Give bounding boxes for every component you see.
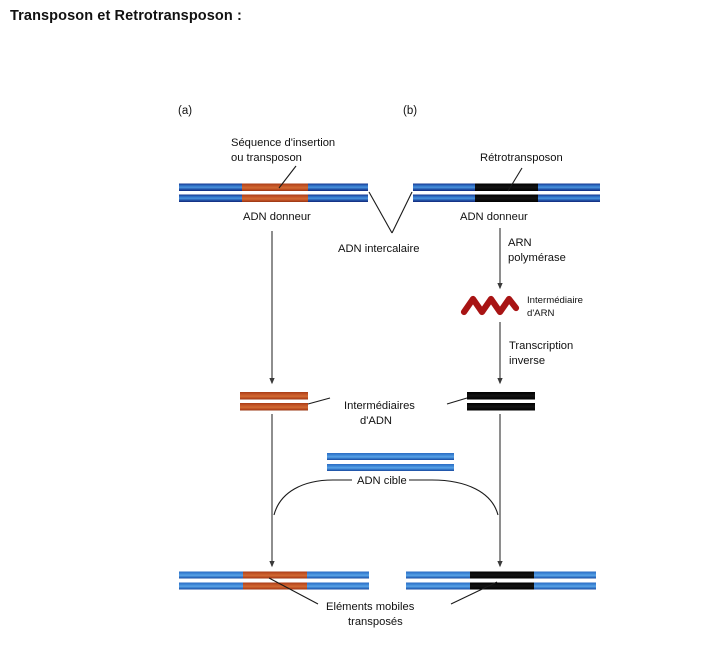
- label-retrotransposon: Rétrotransposon: [480, 152, 563, 164]
- rna-intermediate-squiggle: [464, 299, 516, 312]
- donor-dna-right: [413, 184, 600, 203]
- dna-intermediate-leader-left: [308, 398, 330, 404]
- transposed-element-leader-left: [269, 578, 318, 604]
- label-rna-polymerase-line1: ARN: [508, 237, 532, 249]
- label-rna-polymerase-line2: polymérase: [508, 252, 566, 264]
- transposition-diagram: (a) (b) Séquence d'insertion ou transpos…: [0, 0, 703, 650]
- label-reverse-transcription-line2: inverse: [509, 355, 545, 367]
- dna-intermediate-orange: [240, 392, 308, 411]
- label-transposed-elements-line1: Eléments mobiles: [326, 601, 415, 613]
- label-transposon-line1: Séquence d'insertion: [231, 137, 335, 149]
- target-dna-curve-right: [432, 480, 498, 515]
- panel-label-b: (b): [403, 105, 417, 117]
- donor-dna-left: [179, 184, 368, 203]
- panel-label-a: (a): [178, 105, 192, 117]
- label-spacer-dna: ADN intercalaire: [338, 243, 419, 255]
- label-reverse-transcription-line1: Transcription: [509, 340, 573, 352]
- dna-intermediate-leader-right: [447, 398, 467, 404]
- label-transposed-elements-line2: transposés: [348, 616, 403, 628]
- spacer-dna-connector: [369, 192, 412, 233]
- label-rna-intermediate-line2: d'ARN: [527, 308, 554, 319]
- label-dna-intermediates-line1: Intermédiaires: [344, 400, 415, 412]
- label-dna-intermediates-line2: d'ADN: [360, 415, 392, 427]
- transposed-dna-right: [406, 572, 596, 590]
- label-donor-dna-left: ADN donneur: [243, 211, 311, 223]
- target-dna: [327, 453, 454, 471]
- label-transposon-line2: ou transposon: [231, 152, 302, 164]
- dna-intermediate-black: [467, 392, 535, 411]
- label-donor-dna-right: ADN donneur: [460, 211, 528, 223]
- label-target-dna: ADN cible: [357, 475, 407, 487]
- label-rna-intermediate-line1: Intermédiaire: [527, 295, 583, 306]
- target-dna-curve-left: [274, 480, 333, 515]
